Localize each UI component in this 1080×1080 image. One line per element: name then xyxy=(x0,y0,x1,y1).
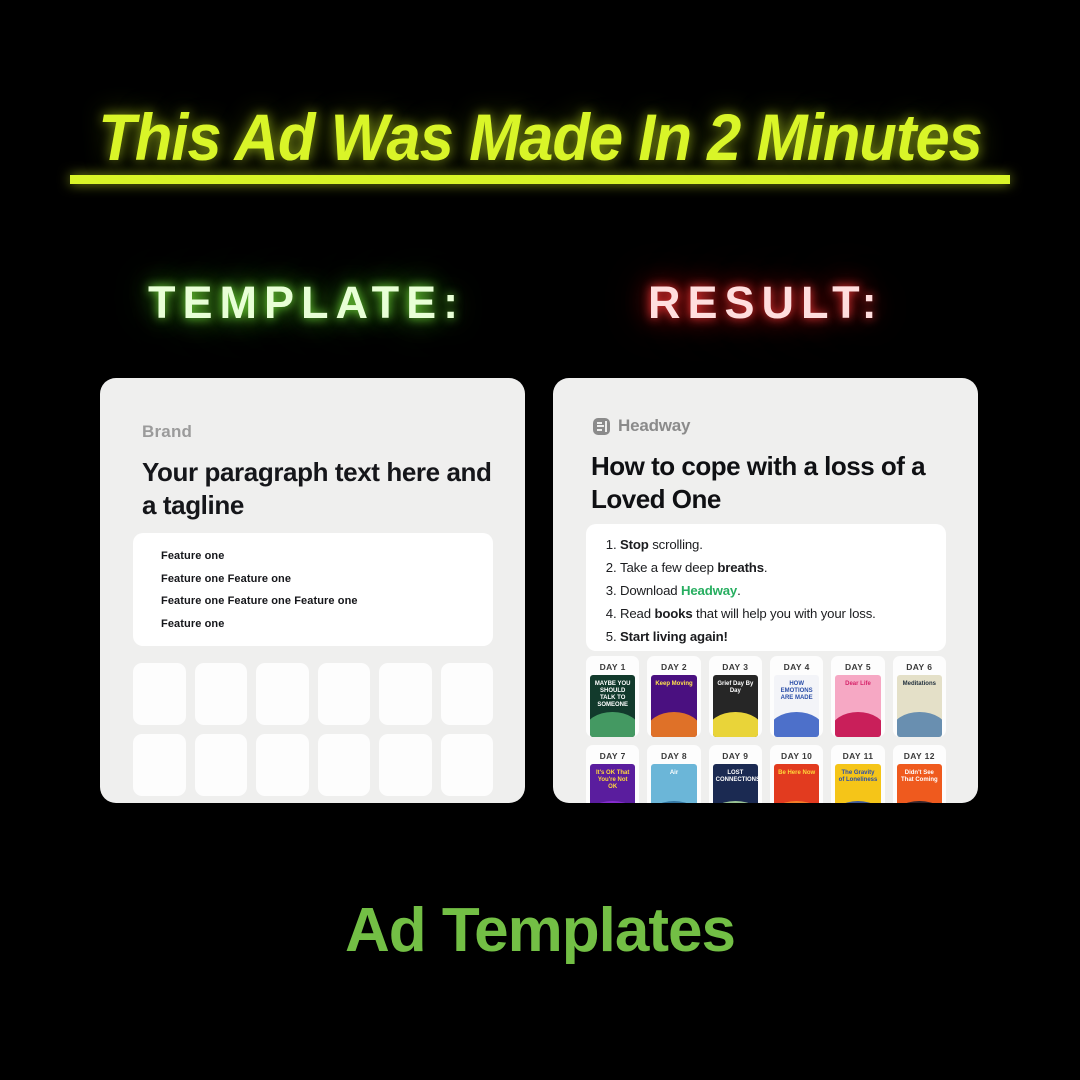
placeholder-tile[interactable] xyxy=(133,663,186,725)
book-thumbnail[interactable]: DAY 8Air xyxy=(647,745,700,803)
book-cover: Keep Moving xyxy=(651,675,696,737)
result-list-item: Read books that will help you with your … xyxy=(620,607,946,620)
book-day-label: DAY 11 xyxy=(835,749,880,764)
feature-item: Feature one Feature one Feature one xyxy=(161,595,358,607)
result-brand-row: Headway xyxy=(593,416,690,436)
book-day-label: DAY 10 xyxy=(774,749,819,764)
template-feature-box: Feature one Feature one Feature one Feat… xyxy=(133,533,493,646)
book-thumbnail[interactable]: DAY 6Meditations xyxy=(893,656,946,737)
headline-underline xyxy=(70,175,1010,184)
section-labels: TEMPLATE: RESULT: xyxy=(0,277,1080,341)
footer-title: Ad Templates xyxy=(0,895,1080,966)
book-day-label: DAY 5 xyxy=(835,660,880,675)
placeholder-tile[interactable] xyxy=(441,663,494,725)
book-cover-title: Meditations xyxy=(897,681,942,688)
book-cover: MAYBE YOU SHOULD TALK TO SOMEONE xyxy=(590,675,635,737)
book-cover-title: MAYBE YOU SHOULD TALK TO SOMEONE xyxy=(590,681,635,709)
book-cover-art xyxy=(713,801,758,803)
poster-canvas: This Ad Was Made In 2 Minutes TEMPLATE: … xyxy=(0,0,1080,1080)
template-headline: Your paragraph text here and a tagline xyxy=(142,456,492,522)
book-day-label: DAY 7 xyxy=(590,749,635,764)
template-placeholder-grid xyxy=(133,663,493,796)
result-list-item: Stop scrolling. xyxy=(620,538,946,551)
result-list-box: Stop scrolling.Take a few deep breaths.D… xyxy=(586,524,946,651)
book-thumbnail[interactable]: DAY 3Grief Day By Day xyxy=(709,656,762,737)
book-cover: Air xyxy=(651,764,696,803)
book-cover: Meditations xyxy=(897,675,942,737)
book-day-label: DAY 3 xyxy=(713,660,758,675)
book-thumbnail[interactable]: DAY 2Keep Moving xyxy=(647,656,700,737)
book-day-label: DAY 2 xyxy=(651,660,696,675)
placeholder-tile[interactable] xyxy=(441,734,494,796)
page-title: This Ad Was Made In 2 Minutes xyxy=(94,104,985,171)
label-template: TEMPLATE: xyxy=(148,277,465,329)
result-list-item: Take a few deep breaths. xyxy=(620,561,946,574)
book-day-label: DAY 12 xyxy=(897,749,942,764)
result-card[interactable]: Headway How to cope with a loss of a Lov… xyxy=(553,378,978,803)
headway-book-icon xyxy=(593,418,610,435)
book-cover-art xyxy=(835,712,880,737)
book-cover-title: LOST CONNECTIONS xyxy=(713,770,758,784)
book-cover: It's OK That You're Not OK xyxy=(590,764,635,803)
book-cover-art xyxy=(590,712,635,737)
book-cover-title: HOW EMOTIONS ARE MADE xyxy=(774,681,819,702)
book-cover-art xyxy=(774,712,819,737)
label-result: RESULT: xyxy=(648,277,884,329)
template-card[interactable]: Brand Your paragraph text here and a tag… xyxy=(100,378,525,803)
book-thumbnail[interactable]: DAY 4HOW EMOTIONS ARE MADE xyxy=(770,656,823,737)
book-cover: Didn't See That Coming xyxy=(897,764,942,803)
book-thumbnail[interactable]: DAY 12Didn't See That Coming xyxy=(893,745,946,803)
result-list-item: Download Headway. xyxy=(620,584,946,597)
book-cover: Grief Day By Day xyxy=(713,675,758,737)
book-thumbnail[interactable]: DAY 11The Gravity of Loneliness xyxy=(831,745,884,803)
headway-link: Headway xyxy=(681,583,737,598)
book-thumbnail-grid: DAY 1MAYBE YOU SHOULD TALK TO SOMEONEDAY… xyxy=(586,656,946,803)
book-thumbnail[interactable]: DAY 9LOST CONNECTIONS xyxy=(709,745,762,803)
book-cover-art xyxy=(774,801,819,803)
book-cover-art xyxy=(835,801,880,803)
result-list-item: Start living again! xyxy=(620,630,946,643)
book-cover-title: Didn't See That Coming xyxy=(897,770,942,784)
feature-item: Feature one xyxy=(161,618,224,630)
placeholder-tile[interactable] xyxy=(379,734,432,796)
book-cover: LOST CONNECTIONS xyxy=(713,764,758,803)
headline-block: This Ad Was Made In 2 Minutes xyxy=(0,104,1080,184)
placeholder-tile[interactable] xyxy=(195,663,248,725)
feature-item: Feature one Feature one xyxy=(161,573,291,585)
book-cover-art xyxy=(590,801,635,803)
placeholder-tile[interactable] xyxy=(195,734,248,796)
book-cover-title: Dear Life xyxy=(835,681,880,688)
book-day-label: DAY 1 xyxy=(590,660,635,675)
book-thumbnail[interactable]: DAY 10Be Here Now xyxy=(770,745,823,803)
book-cover-art xyxy=(651,712,696,737)
book-day-label: DAY 4 xyxy=(774,660,819,675)
book-cover-title: Grief Day By Day xyxy=(713,681,758,695)
book-day-label: DAY 8 xyxy=(651,749,696,764)
book-cover-title: The Gravity of Loneliness xyxy=(835,770,880,784)
book-thumbnail[interactable]: DAY 5Dear Life xyxy=(831,656,884,737)
book-cover: HOW EMOTIONS ARE MADE xyxy=(774,675,819,737)
book-day-label: DAY 9 xyxy=(713,749,758,764)
book-cover-title: Air xyxy=(651,770,696,777)
result-brand-label: Headway xyxy=(618,416,690,436)
placeholder-tile[interactable] xyxy=(133,734,186,796)
book-cover-art xyxy=(897,801,942,803)
book-cover: Be Here Now xyxy=(774,764,819,803)
book-day-label: DAY 6 xyxy=(897,660,942,675)
book-cover-art xyxy=(651,801,696,803)
result-headline: How to cope with a loss of a Loved One xyxy=(591,450,941,516)
book-cover: The Gravity of Loneliness xyxy=(835,764,880,803)
placeholder-tile[interactable] xyxy=(256,663,309,725)
template-brand: Brand xyxy=(142,422,192,442)
feature-item: Feature one xyxy=(161,550,224,562)
placeholder-tile[interactable] xyxy=(379,663,432,725)
book-thumbnail[interactable]: DAY 1MAYBE YOU SHOULD TALK TO SOMEONE xyxy=(586,656,639,737)
book-cover-title: Be Here Now xyxy=(774,770,819,777)
book-cover-art xyxy=(713,712,758,737)
book-cover-art xyxy=(897,712,942,737)
book-cover: Dear Life xyxy=(835,675,880,737)
book-cover-title: It's OK That You're Not OK xyxy=(590,770,635,791)
placeholder-tile[interactable] xyxy=(318,663,371,725)
placeholder-tile[interactable] xyxy=(256,734,309,796)
book-thumbnail[interactable]: DAY 7It's OK That You're Not OK xyxy=(586,745,639,803)
book-cover-title: Keep Moving xyxy=(651,681,696,688)
placeholder-tile[interactable] xyxy=(318,734,371,796)
